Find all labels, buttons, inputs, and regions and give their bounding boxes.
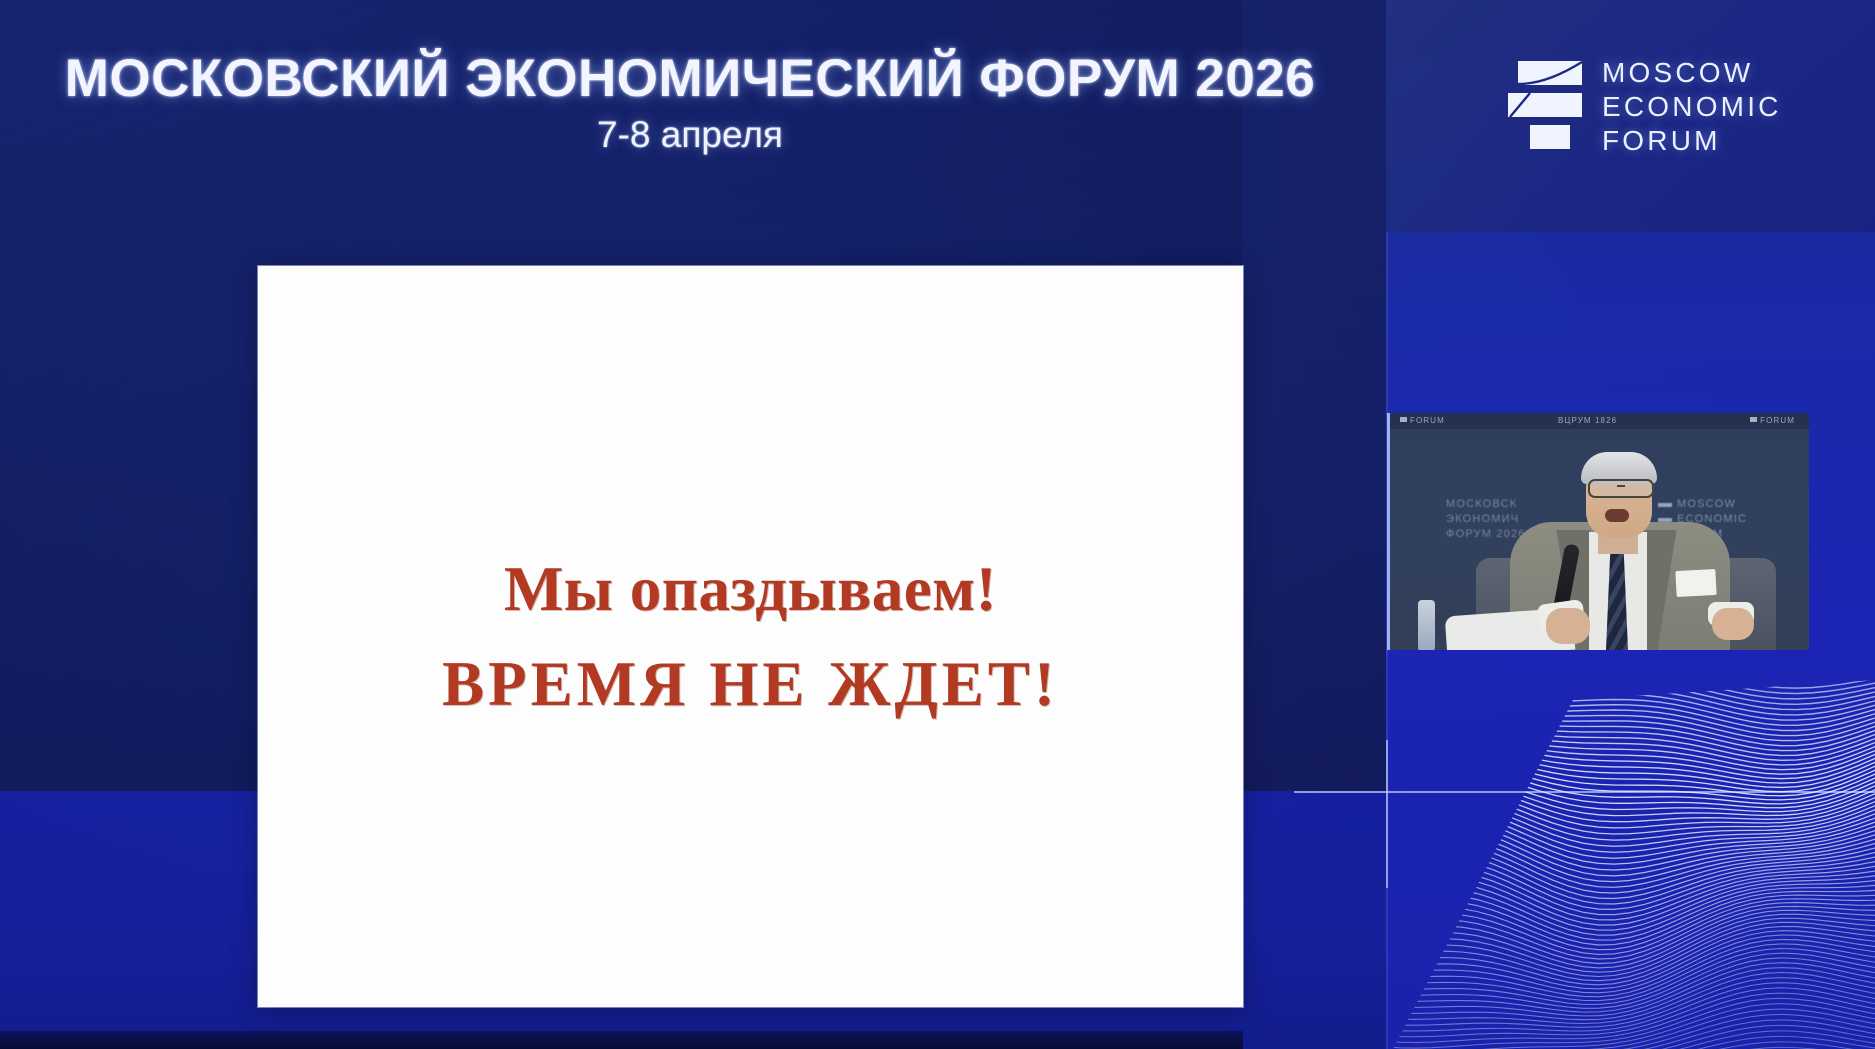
slide-headline-secondary: ВРЕМЯ НЕ ЖДЕТ! — [442, 648, 1059, 721]
speaker-glasses — [1588, 479, 1654, 498]
speaker-mouth — [1605, 509, 1629, 522]
bottom-shadow-strip — [0, 1031, 1243, 1049]
backdrop-brand-ru-line2: ЭКОНОМИЧ — [1446, 512, 1526, 527]
speaker-hand-left — [1546, 608, 1590, 644]
backdrop-brand-ru-line1: МОСКОВСК — [1446, 497, 1526, 512]
forum-dates: 7-8 апреля — [0, 114, 1380, 156]
mef-logo: MOSCOW ECONOMIC FORUM — [1508, 57, 1782, 155]
chip-icon — [1400, 417, 1407, 422]
presentation-slide: Мы опаздываем! ВРЕМЯ НЕ ЖДЕТ! — [258, 266, 1243, 1007]
backdrop-brand-ru-line3: ФОРУМ 2026 — [1446, 527, 1526, 542]
mef-logo-wordmark: MOSCOW ECONOMIC FORUM — [1602, 57, 1782, 155]
logo-line-economic: ECONOMIC — [1602, 93, 1782, 121]
crosshair-vertical-line — [1386, 740, 1388, 888]
crosshair-horizontal-line — [1294, 791, 1875, 793]
logo-line-moscow: MOSCOW — [1602, 59, 1782, 87]
video-tag-right-label: FORUM — [1760, 416, 1795, 425]
backdrop-brand-en-line1: MOSCOW — [1677, 497, 1736, 512]
video-tag-left-label: FORUM — [1410, 416, 1445, 425]
broadcast-stage: МОСКОВСКИЙ ЭКОНОМИЧЕСКИЙ ФОРУМ 2026 7-8 … — [0, 0, 1875, 1049]
slide-headline-primary: Мы опаздываем! — [504, 553, 997, 626]
water-bottle — [1418, 600, 1435, 650]
chip-icon — [1750, 417, 1757, 422]
speaker-video-inset[interactable]: МОСКОВСК ЭКОНОМИЧ ФОРУМ 2026 MOSCOW ECON… — [1387, 413, 1809, 650]
forum-title: МОСКОВСКИЙ ЭКОНОМИЧЕСКИЙ ФОРУМ 2026 — [0, 48, 1380, 109]
video-tag-left: FORUM — [1400, 416, 1445, 425]
video-tag-mid-label: ВЦРУМ 1826 — [1558, 416, 1617, 425]
backdrop-brand-russian: МОСКОВСК ЭКОНОМИЧ ФОРУМ 2026 — [1446, 497, 1526, 542]
speaker-hand-right — [1712, 608, 1754, 640]
speaker-name-badge — [1675, 569, 1716, 597]
backdrop-bar-icon — [1658, 518, 1672, 522]
video-tag-mid: ВЦРУМ 1826 — [1558, 416, 1617, 425]
backdrop-bar-icon — [1658, 503, 1672, 507]
mef-logo-mark-icon — [1508, 57, 1584, 153]
logo-line-forum: FORUM — [1602, 127, 1782, 155]
video-tag-right: FORUM — [1750, 416, 1795, 425]
